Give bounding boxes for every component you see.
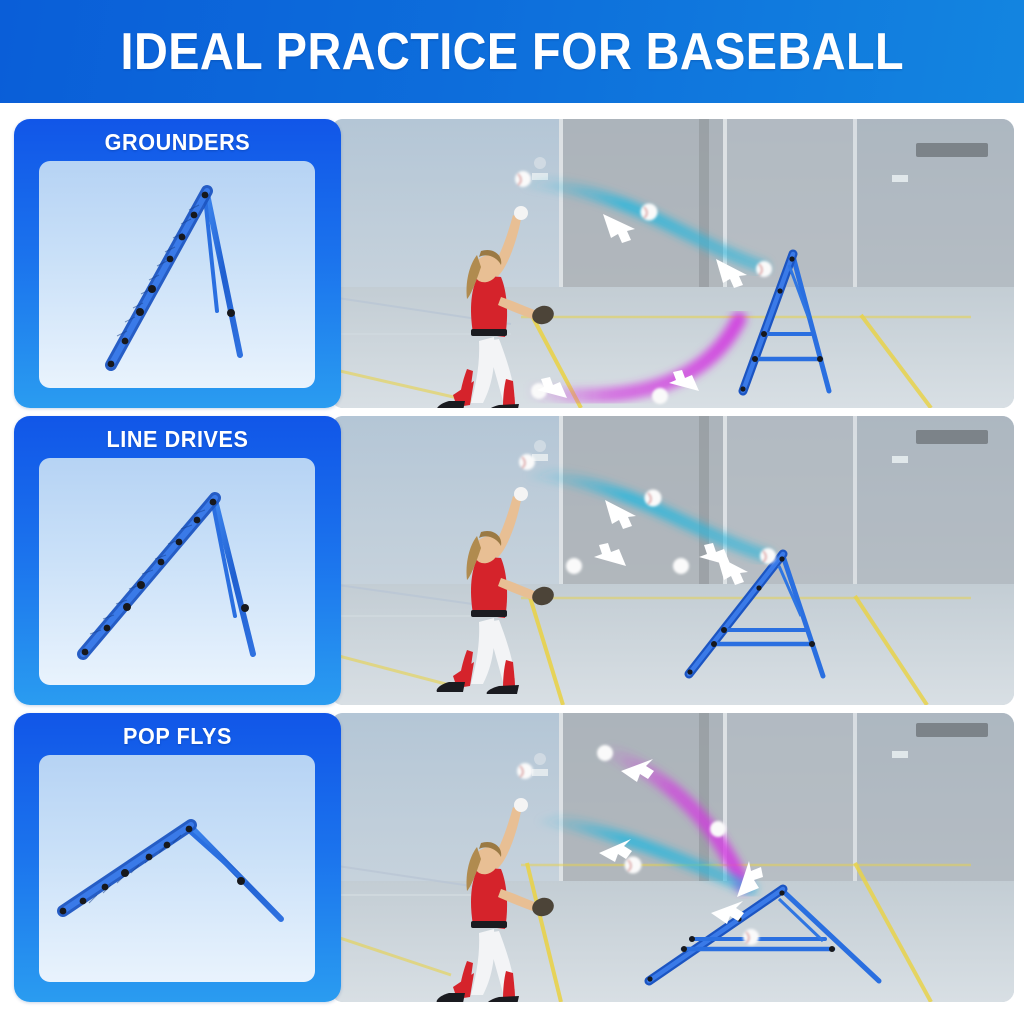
- infographic-page: IDEAL PRACTICE FOR BASEBALL GROUNDERS: [0, 0, 1024, 1024]
- row-line-drives: LINE DRIVES: [14, 416, 1014, 705]
- header-banner: IDEAL PRACTICE FOR BASEBALL: [0, 0, 1024, 103]
- product-stage-line-drives: [39, 458, 315, 685]
- row-pop-flys: POP FLYS: [14, 713, 1014, 1002]
- card-title-pop-flys: POP FLYS: [24, 721, 331, 751]
- card-title-grounders: GROUNDERS: [24, 127, 331, 157]
- rows-container: GROUNDERS: [0, 103, 1024, 1024]
- product-card-line-drives: LINE DRIVES: [14, 416, 341, 705]
- scene-photo-grounders: [331, 119, 1014, 408]
- rebounder-frame-flat-icon: [39, 755, 315, 982]
- rebounder-frame-steep-icon: [39, 161, 315, 388]
- scene-photo-line-drives: [331, 416, 1014, 705]
- scene-photo-pop-flys: [331, 713, 1014, 1002]
- rebounder-frame-medium-icon: [39, 458, 315, 685]
- product-card-grounders: GROUNDERS: [14, 119, 341, 408]
- product-stage-pop-flys: [39, 755, 315, 982]
- product-card-pop-flys: POP FLYS: [14, 713, 341, 1002]
- page-title: IDEAL PRACTICE FOR BASEBALL: [120, 22, 904, 82]
- card-title-line-drives: LINE DRIVES: [24, 424, 331, 454]
- row-grounders: GROUNDERS: [14, 119, 1014, 408]
- product-stage-grounders: [39, 161, 315, 388]
